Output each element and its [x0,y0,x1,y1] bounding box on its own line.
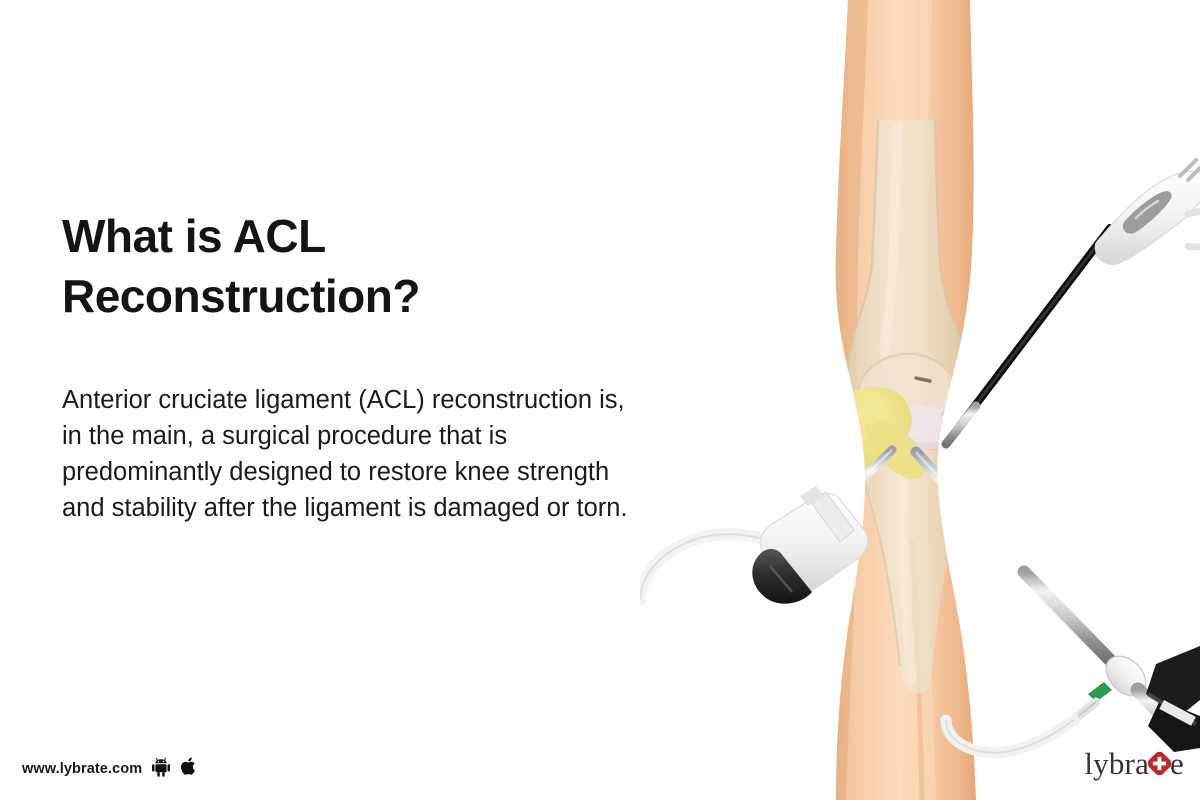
brand-name-part-1: lybra [1084,748,1149,779]
cannula-handle [1146,646,1200,752]
brand-name-part-2: e [1170,748,1184,779]
apple-icon[interactable] [180,756,198,782]
leg [792,0,1032,800]
arthroscope-handpiece [1095,160,1200,264]
cannula-valve [1076,682,1112,718]
body-paragraph: Anterior cruciate ligament (ACL) reconst… [62,326,648,526]
acl-reconstruction-illustration [640,0,1200,800]
arthroscope [946,160,1200,444]
android-icon[interactable] [151,756,171,782]
slide-canvas: What is ACL Reconstruction? Anterior cru… [0,0,1200,800]
brand-logo[interactable]: lybra e [1084,748,1184,779]
arthroscope-ferrule [946,406,976,444]
text-column: What is ACL Reconstruction? Anterior cru… [62,206,662,526]
shaver-handpiece [640,486,868,604]
page-title: What is ACL Reconstruction? [62,206,482,326]
website-url[interactable]: www.lybrate.com [22,761,142,777]
cannula [946,572,1200,753]
cannula-shaft [1024,572,1110,660]
footer: www.lybrate.com [22,756,198,782]
fibula [966,450,976,586]
medical-cross-icon [1148,752,1171,775]
